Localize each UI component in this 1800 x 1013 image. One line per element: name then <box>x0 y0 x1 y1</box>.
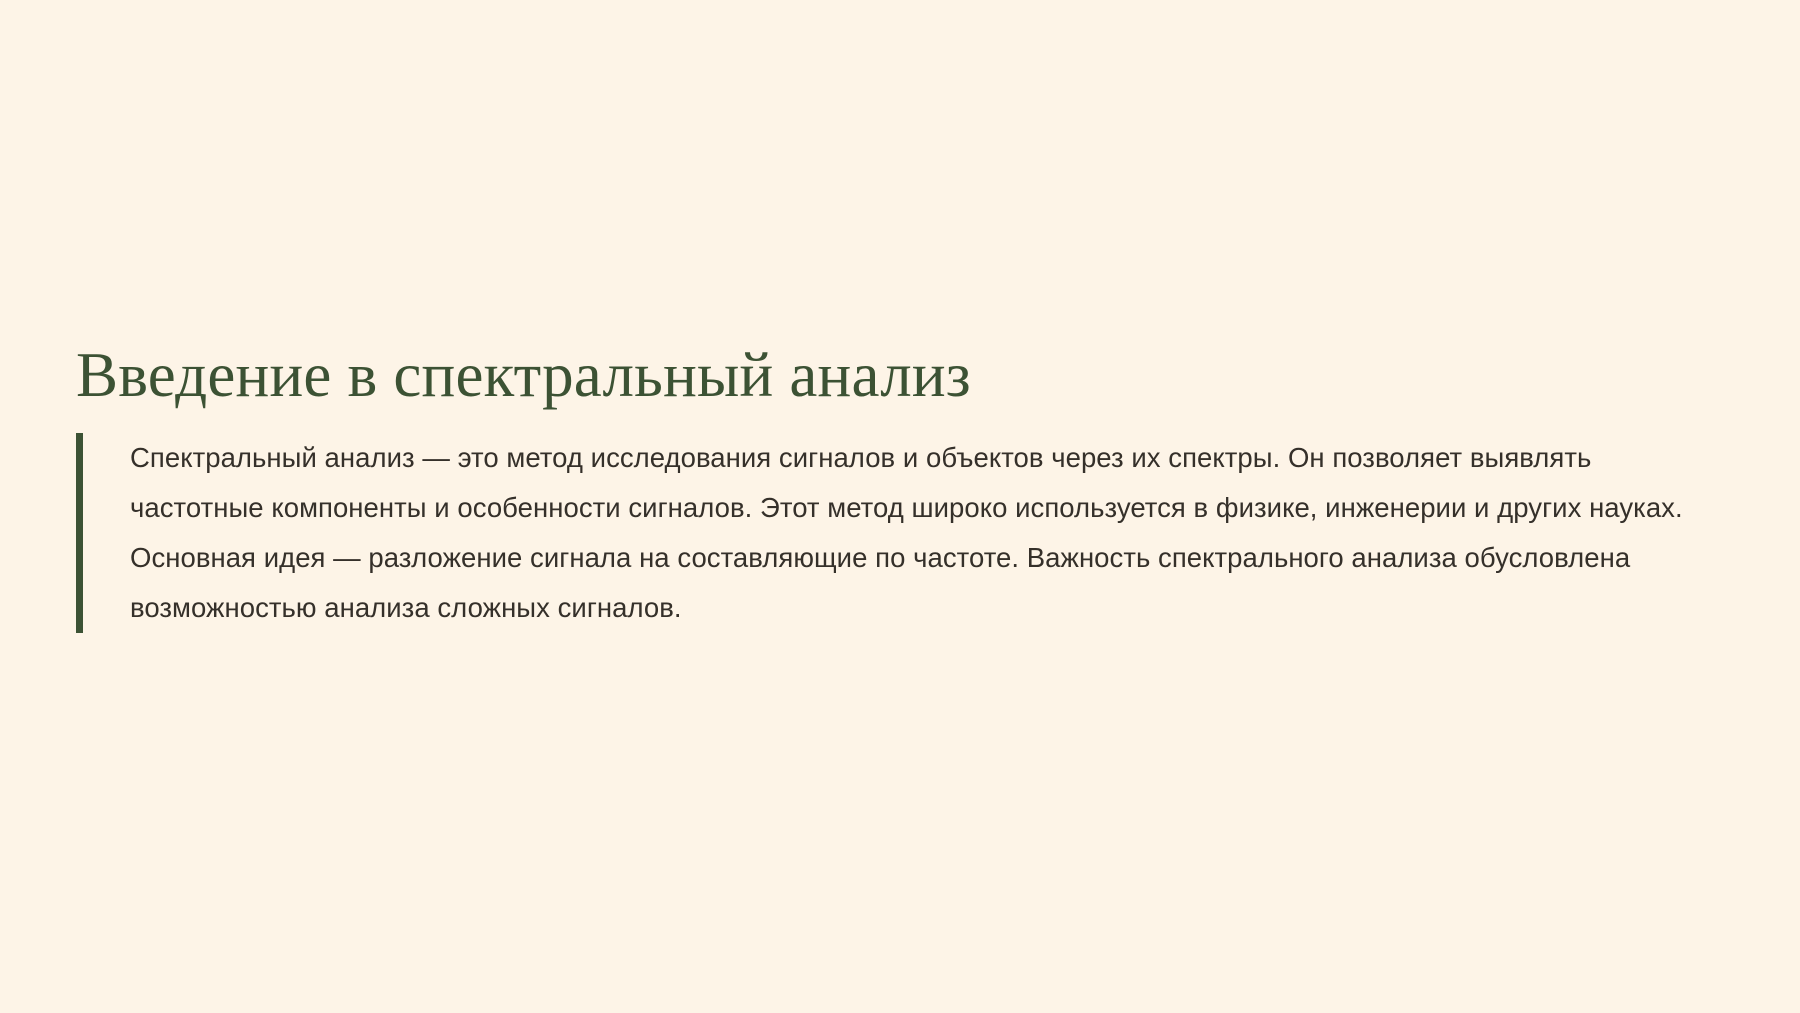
body-paragraph: Спектральный анализ — это метод исследов… <box>130 433 1686 633</box>
quote-accent-bar <box>76 433 83 633</box>
quote-block: Спектральный анализ — это метод исследов… <box>76 433 1686 633</box>
slide-canvas: Введение в спектральный анализ Спектраль… <box>0 0 1800 1013</box>
slide-content-block: Введение в спектральный анализ Спектраль… <box>76 340 1686 633</box>
page-title: Введение в спектральный анализ <box>76 340 1686 411</box>
